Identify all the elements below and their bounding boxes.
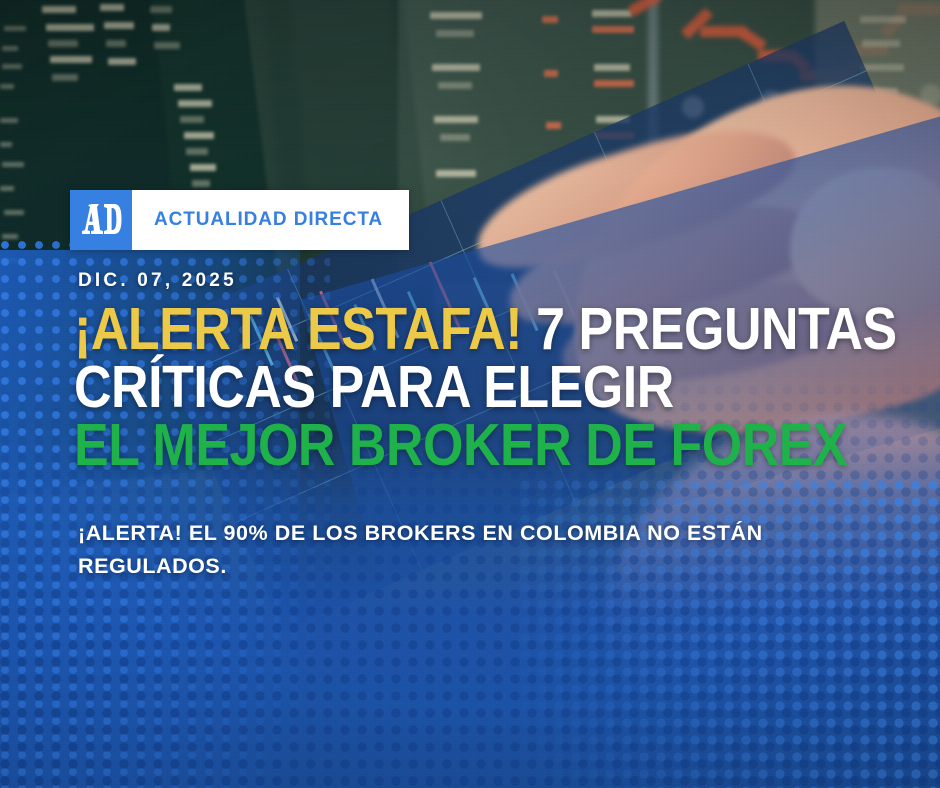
- brand-name-bar: ACTUALIDAD DIRECTA: [132, 190, 409, 250]
- headline-line-2: CRÍTICAS PARA ELEGIR: [74, 358, 796, 416]
- social-card: ACTUALIDAD DIRECTA DIC. 07, 2025 ¡ALERTA…: [0, 0, 940, 788]
- brand-lockup[interactable]: ACTUALIDAD DIRECTA: [70, 190, 409, 250]
- headline-line-1: ¡ALERTA ESTAFA! 7 PREGUNTAS: [74, 300, 796, 358]
- card-content: ACTUALIDAD DIRECTA DIC. 07, 2025 ¡ALERTA…: [0, 0, 940, 788]
- headline: ¡ALERTA ESTAFA! 7 PREGUNTAS CRÍTICAS PAR…: [74, 300, 894, 474]
- subtitle: ¡ALERTA! EL 90% DE LOS BROKERS EN COLOMB…: [78, 517, 838, 583]
- headline-alert-phrase: ¡ALERTA ESTAFA!: [74, 296, 522, 362]
- brand-name: ACTUALIDAD DIRECTA: [154, 209, 383, 231]
- publish-date: DIC. 07, 2025: [78, 270, 237, 292]
- brand-mark-ad-icon: [70, 190, 132, 250]
- headline-line-3: EL MEJOR BROKER DE FOREX: [74, 416, 796, 474]
- headline-questions-phrase: 7 PREGUNTAS: [536, 296, 897, 362]
